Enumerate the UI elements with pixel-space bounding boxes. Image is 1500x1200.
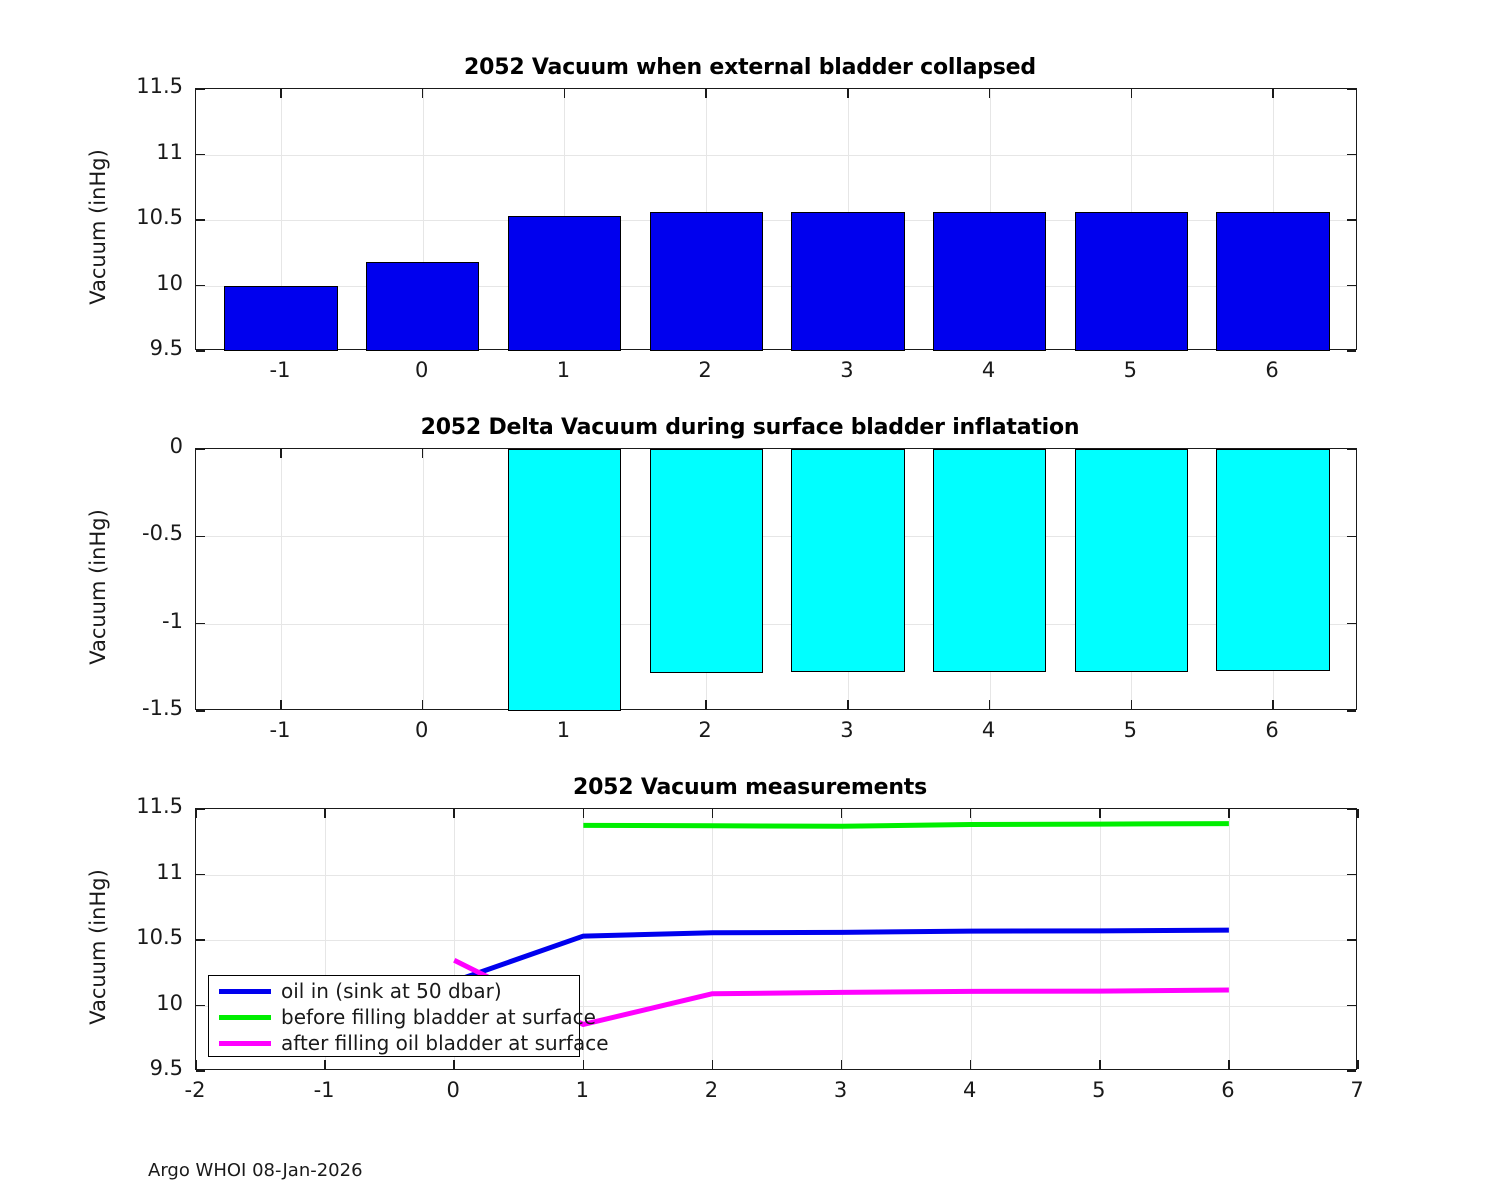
x-tick-label: 5 bbox=[1080, 358, 1180, 382]
x-tick-label: -2 bbox=[145, 1078, 245, 1102]
panel1-title: 2052 Vacuum when external bladder collap… bbox=[0, 55, 1500, 80]
x-tick-label: 3 bbox=[797, 358, 897, 382]
y-tick-label: -0.5 bbox=[87, 521, 183, 545]
x-tick-mark bbox=[564, 89, 566, 98]
y-tick-label: -1 bbox=[87, 609, 183, 633]
y-tick-label: 10 bbox=[87, 271, 183, 295]
legend-label-oil-in: oil in (sink at 50 dbar) bbox=[281, 979, 502, 1003]
bar bbox=[224, 286, 337, 352]
panel2-axes bbox=[195, 448, 1357, 710]
bar bbox=[791, 212, 904, 351]
x-tick-label: 3 bbox=[791, 1078, 891, 1102]
x-tick-label: 5 bbox=[1049, 1078, 1149, 1102]
y-tick-label: -1.5 bbox=[87, 696, 183, 720]
legend-item: after filling oil bladder at surface bbox=[209, 1030, 579, 1056]
line-series bbox=[454, 930, 1229, 981]
y-tick-label: 0 bbox=[87, 434, 183, 458]
x-tick-mark bbox=[422, 700, 424, 709]
y-tick-label: 10.5 bbox=[87, 205, 183, 229]
x-tick-mark bbox=[989, 89, 991, 98]
y-tick-label: 9.5 bbox=[87, 336, 183, 360]
panel2-ylabel: Vacuum (inHg) bbox=[86, 477, 110, 697]
x-tick-label: 3 bbox=[797, 718, 897, 742]
x-tick-label: -1 bbox=[274, 1078, 374, 1102]
panel2-title: 2052 Delta Vacuum during surface bladder… bbox=[0, 415, 1500, 440]
x-tick-label: 2 bbox=[655, 358, 755, 382]
x-tick-mark bbox=[1131, 89, 1133, 98]
x-tick-label: 4 bbox=[939, 718, 1039, 742]
x-tick-label: 0 bbox=[372, 718, 472, 742]
x-tick-mark bbox=[422, 89, 424, 98]
panel1-axes bbox=[195, 88, 1357, 350]
bar bbox=[791, 449, 904, 672]
x-tick-label: -1 bbox=[230, 718, 330, 742]
x-tick-mark bbox=[280, 449, 282, 458]
panel-vacuum-measurements: 2052 Vacuum measurements Vacuum (inHg) o… bbox=[0, 775, 1500, 1105]
x-tick-mark bbox=[1272, 700, 1274, 709]
x-tick-mark bbox=[422, 449, 424, 458]
legend-item: before filling bladder at surface bbox=[209, 1004, 579, 1030]
y-tick-mark bbox=[1347, 623, 1356, 625]
y-tick-mark bbox=[1347, 448, 1356, 450]
gridline-vertical bbox=[281, 449, 282, 709]
x-tick-label: 1 bbox=[532, 1078, 632, 1102]
y-tick-label: 10.5 bbox=[87, 925, 183, 949]
panel3-title: 2052 Vacuum measurements bbox=[0, 775, 1500, 800]
y-tick-mark bbox=[1347, 710, 1356, 712]
y-tick-mark bbox=[196, 448, 205, 450]
y-tick-mark bbox=[196, 285, 205, 287]
y-tick-mark bbox=[1347, 536, 1356, 538]
y-tick-label: 10 bbox=[87, 991, 183, 1015]
bar bbox=[1075, 212, 1188, 352]
legend-label-before-filling: before filling bladder at surface bbox=[281, 1005, 596, 1029]
y-tick-label: 11 bbox=[87, 140, 183, 164]
bar bbox=[366, 262, 479, 351]
x-tick-label: 1 bbox=[513, 718, 613, 742]
legend-swatch-before-filling bbox=[219, 1015, 271, 1020]
x-tick-label: 6 bbox=[1178, 1078, 1278, 1102]
bar bbox=[1216, 212, 1329, 352]
figure-canvas: 2052 Vacuum when external bladder collap… bbox=[0, 0, 1500, 1200]
x-tick-label: 6 bbox=[1222, 718, 1322, 742]
y-tick-mark bbox=[196, 219, 205, 221]
bar bbox=[508, 216, 621, 351]
bar bbox=[1075, 449, 1188, 672]
x-tick-mark bbox=[705, 700, 707, 709]
x-tick-mark bbox=[1272, 89, 1274, 98]
legend-swatch-after-filling bbox=[219, 1041, 271, 1046]
y-tick-mark bbox=[1347, 350, 1356, 352]
x-tick-label: 0 bbox=[372, 358, 472, 382]
bar bbox=[1216, 449, 1329, 671]
y-tick-label: 11 bbox=[87, 860, 183, 884]
panel-delta-vacuum: 2052 Delta Vacuum during surface bladder… bbox=[0, 415, 1500, 745]
x-tick-label: 0 bbox=[403, 1078, 503, 1102]
x-tick-label: 4 bbox=[939, 358, 1039, 382]
legend-label-after-filling: after filling oil bladder at surface bbox=[281, 1031, 609, 1055]
y-tick-mark bbox=[196, 710, 205, 712]
x-tick-mark bbox=[1131, 700, 1133, 709]
y-tick-mark bbox=[196, 88, 205, 90]
y-tick-mark bbox=[196, 536, 205, 538]
legend-item: oil in (sink at 50 dbar) bbox=[209, 978, 579, 1004]
y-tick-mark bbox=[196, 623, 205, 625]
x-tick-mark bbox=[847, 89, 849, 98]
bar bbox=[650, 212, 763, 351]
x-tick-label: 2 bbox=[655, 718, 755, 742]
bar bbox=[933, 449, 1046, 672]
x-tick-label: 1 bbox=[513, 358, 613, 382]
y-tick-mark bbox=[1347, 88, 1356, 90]
bar bbox=[933, 212, 1046, 352]
x-tick-mark bbox=[847, 700, 849, 709]
gridline-vertical bbox=[423, 449, 424, 709]
bar bbox=[650, 449, 763, 673]
x-tick-label: 2 bbox=[661, 1078, 761, 1102]
y-tick-label: 9.5 bbox=[87, 1056, 183, 1080]
y-tick-mark bbox=[1347, 219, 1356, 221]
x-tick-mark bbox=[280, 700, 282, 709]
x-tick-label: 5 bbox=[1080, 718, 1180, 742]
y-tick-mark bbox=[1347, 154, 1356, 156]
x-tick-label: 7 bbox=[1307, 1078, 1407, 1102]
line-series bbox=[583, 824, 1229, 827]
x-tick-mark bbox=[280, 89, 282, 98]
gridline-horizontal bbox=[196, 155, 1356, 156]
chart-legend: oil in (sink at 50 dbar) before filling … bbox=[208, 975, 580, 1057]
panel-vacuum-collapsed: 2052 Vacuum when external bladder collap… bbox=[0, 55, 1500, 385]
y-tick-mark bbox=[196, 154, 205, 156]
x-tick-mark bbox=[989, 700, 991, 709]
x-tick-label: 4 bbox=[920, 1078, 1020, 1102]
y-tick-label: 11.5 bbox=[87, 74, 183, 98]
legend-swatch-oil-in bbox=[219, 989, 271, 994]
footer-credit: Argo WHOI 08-Jan-2026 bbox=[148, 1160, 363, 1181]
y-tick-mark bbox=[196, 350, 205, 352]
x-tick-mark bbox=[705, 89, 707, 98]
y-tick-label: 11.5 bbox=[87, 794, 183, 818]
y-tick-mark bbox=[1347, 285, 1356, 287]
x-tick-label: -1 bbox=[230, 358, 330, 382]
bar bbox=[508, 449, 621, 711]
x-tick-label: 6 bbox=[1222, 358, 1322, 382]
